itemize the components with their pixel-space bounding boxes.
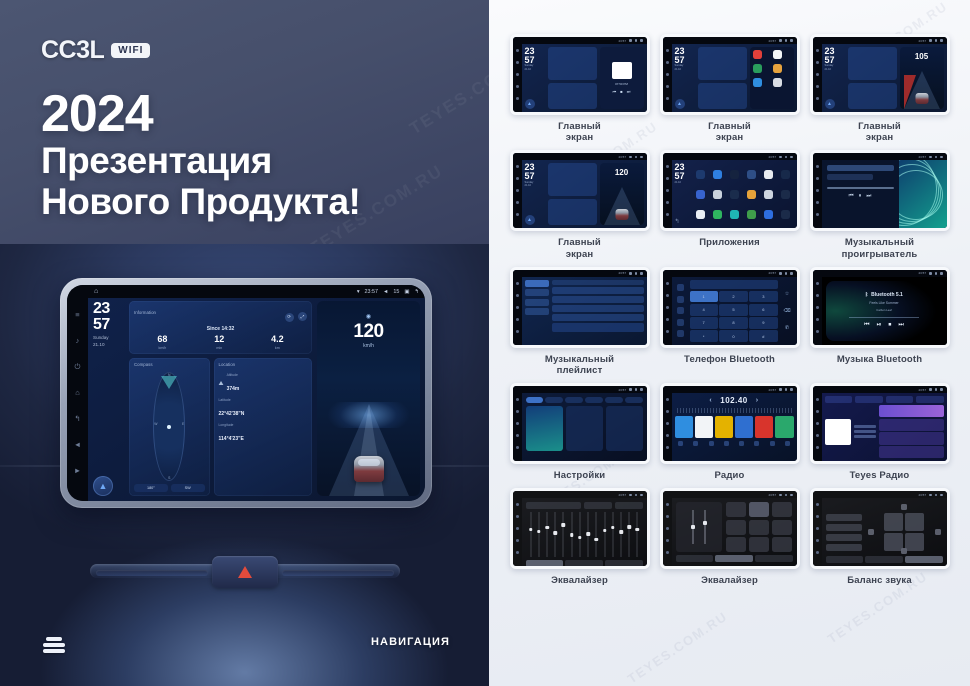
expand-icon[interactable]: ⤢ <box>298 312 307 321</box>
player-visualizer <box>899 160 947 228</box>
gallery-item-home-apps[interactable]: 23:57 2357Sunday21.10 ▲ <box>660 34 800 143</box>
bt-badge: Bluetooth 5.1 <box>871 292 903 298</box>
status-bar: ⌂ ▾ 23:57 ◄ 15 ▣ ↰ <box>88 285 425 298</box>
dialpad-actions[interactable]: ☆ ⌫ ✆ <box>781 280 794 342</box>
stat-value: 68 <box>157 335 167 344</box>
thumb-status-bar: 23:57 <box>672 386 797 393</box>
call-icon[interactable]: ✆ <box>785 325 789 331</box>
gallery-item-bt-music[interactable]: 23:57 ᛒBluetooth 5.1 Feels Like Summer C… <box>810 267 950 376</box>
navigation-fab-button[interactable]: ▲ <box>93 476 113 496</box>
screenshot-icon[interactable]: ▣ <box>404 289 409 295</box>
thumb-status-bar: 23:57 <box>522 37 647 44</box>
compass-cone-icon <box>161 376 177 389</box>
compass-north-label: N <box>168 373 170 377</box>
gallery-item-dialpad[interactable]: 23:57 123 456 <box>660 267 800 376</box>
thumb-side-rail <box>513 270 522 345</box>
home-icon[interactable]: ⌂ <box>94 288 98 295</box>
gallery-item-caption: Главный экран <box>558 237 601 259</box>
location-latitude: Latitude 22°42'38"N <box>219 398 307 420</box>
gallery-item-caption: Настройки <box>554 470 605 481</box>
dashboard-glow <box>0 509 489 686</box>
screenshot-thumbnail[interactable]: 23:57 <box>810 488 950 569</box>
thumb-side-rail <box>663 491 672 566</box>
balance-left-button[interactable] <box>868 529 874 535</box>
gallery-item-teyes-radio[interactable]: 23:57 <box>810 383 950 481</box>
compass-bearing: 180° <box>134 484 168 492</box>
bt-artist: Carbon Leaf <box>849 308 919 312</box>
screenshot-thumbnail[interactable]: 23:57 123 456 <box>660 267 800 348</box>
radio-next-icon[interactable]: › <box>756 397 759 404</box>
gallery-row: 23:57 2357Sunday21.10 ▲ <box>501 34 958 143</box>
screenshot-thumbnail[interactable]: 23:57 <box>510 488 650 569</box>
screenshot-thumbnail[interactable]: 23:57 <box>810 383 950 464</box>
head-unit-side-rail[interactable]: ≡ ♪ ⏻ ⌂ ↰ ◄ ► <box>67 285 88 501</box>
location-latitude-value: 22°42'38"N <box>219 411 245 417</box>
thumb-side-rail <box>513 386 522 461</box>
backspace-icon[interactable]: ⌫ <box>783 308 790 314</box>
gallery-item-caption: Главный экран <box>558 121 601 143</box>
compass-title: Compass <box>134 362 205 367</box>
eq2-sliders[interactable] <box>676 502 722 552</box>
eq2-presets[interactable] <box>726 502 793 552</box>
back-icon[interactable]: ↰ <box>414 289 419 295</box>
head-unit-home-screen: ⌂ ▾ 23:57 ◄ 15 ▣ ↰ <box>88 285 425 501</box>
gallery-item-home-drive[interactable]: 23:57 2357Sunday21.10 ▲ <box>810 34 950 143</box>
gallery-item-caption: Телефон Bluetooth <box>684 354 775 365</box>
stat-unit: km <box>271 346 284 350</box>
gallery-item-caption: Эквалайзер <box>701 575 758 586</box>
thumb-nav-fab-icon: ▲ <box>825 99 835 109</box>
drive-view-panel[interactable]: ◉ 120 km/h <box>317 301 420 496</box>
screenshot-thumbnail[interactable]: 23:57 ‹ 102.40 › <box>660 383 800 464</box>
vent-slot <box>282 570 394 576</box>
thumb-side-rail <box>663 270 672 345</box>
widgets-bottom-row: Compass N E S W <box>129 358 312 496</box>
location-altitude: ⛰ Altitude 374m <box>219 373 307 395</box>
screenshot-thumbnail[interactable]: 23:57 <box>660 488 800 569</box>
home-grid: 23 57 Sunday 21.10 ▲ <box>93 301 420 496</box>
thumb-status-bar: 23:57 <box>822 491 947 498</box>
stat-item: 12 min <box>214 335 224 350</box>
gallery-row: 23:57 Настройки <box>501 383 958 481</box>
gallery-row: 23:57 <box>501 267 958 376</box>
car-3d-model <box>354 456 384 482</box>
gallery-item-settings[interactable]: 23:57 Настройки <box>510 383 650 481</box>
stat-unit: min <box>214 346 224 350</box>
rail-menu-icon[interactable]: ≡ <box>75 311 79 319</box>
gallery-row: 23:57 <box>501 488 958 586</box>
thumb-side-rail <box>813 270 822 345</box>
navigation-label: НАВИГАЦИЯ <box>371 636 450 648</box>
gallery-item-player[interactable]: 23:57 ⏮⏸⏭ <box>810 150 950 259</box>
volume-icon: ◄ <box>383 289 388 295</box>
thumb-side-rail <box>513 153 522 228</box>
screenshot-thumbnail[interactable]: 23:57 2357Sunday21.10 ▲ <box>510 150 650 231</box>
gallery-item-caption: Главный экран <box>858 121 901 143</box>
compass-west-label: W <box>154 422 157 426</box>
compass-card[interactable]: Compass N E S W <box>129 358 210 496</box>
thumb-status-bar: 23:57 <box>522 270 647 277</box>
radio-frequency: 102.40 <box>720 396 747 405</box>
location-longitude-value: 114°4'23"E <box>219 436 244 442</box>
location-card[interactable]: Location ⛰ Altitude 374m <box>214 358 312 496</box>
location-altitude-label: Altitude <box>227 373 240 377</box>
thumb-status-bar: 23:57 <box>672 37 797 44</box>
compass-readouts: 180° SW <box>134 484 205 492</box>
hero-headline-line1: Презентация <box>41 141 360 182</box>
gallery-row: 23:57 2357Sunday21.10 ▲ <box>501 150 958 259</box>
thumb-side-rail <box>813 153 822 228</box>
thumb-side-rail <box>813 386 822 461</box>
car-dashboard-photo: ≡ ♪ ⏻ ⌂ ↰ ◄ ► ⌂ ▾ 23:57 <box>0 244 489 686</box>
rail-volume-up-icon[interactable]: ► <box>74 467 81 475</box>
balance-rear-button[interactable] <box>901 548 907 554</box>
radio-presets[interactable] <box>675 416 794 438</box>
stat-value: 4.2 <box>271 335 284 344</box>
radio-prev-icon[interactable]: ‹ <box>709 397 712 404</box>
location-longitude: Longitude 114°4'23"E <box>219 423 307 445</box>
navigation-arrow-icon: ▲ <box>99 482 108 491</box>
gallery-item-caption: Главный экран <box>708 121 751 143</box>
thumb-speed-value: 105 <box>900 52 944 61</box>
thumb-side-rail <box>663 386 672 461</box>
status-bar-right: ▾ 23:57 ◄ 15 ▣ ↰ <box>357 289 419 295</box>
thumb-side-rail <box>813 491 822 566</box>
balance-front-button[interactable] <box>901 504 907 510</box>
gallery-item-caption: Музыкальный проигрыватель <box>842 237 918 259</box>
compass-direction: SW <box>171 484 205 492</box>
location-title: Location <box>219 362 307 367</box>
thumb-status-bar: 23:57 <box>672 153 797 160</box>
stat-unit: km/h <box>157 346 167 350</box>
gallery-item-caption: Баланс звука <box>847 575 912 586</box>
gallery-item-caption: Радио <box>715 470 745 481</box>
thumb-status-bar: 23:57 <box>522 386 647 393</box>
thumb-status-bar: 23:57 <box>822 270 947 277</box>
rail-home-icon[interactable]: ⌂ <box>75 389 80 397</box>
screenshot-thumbnail[interactable]: 23:57 <box>510 267 650 348</box>
widgets-column: Information ⟳ ⤢ Since 14:32 <box>129 301 312 496</box>
compass-south-label: S <box>168 476 170 480</box>
clock-column: 23 57 Sunday 21.10 ▲ <box>93 301 124 496</box>
thumb-side-rail <box>663 37 672 112</box>
gallery-item-apps[interactable]: 23:57 235721.10 ↰ <box>660 150 800 259</box>
gallery-item-caption: Приложения <box>699 237 760 248</box>
clock-widget: 23 57 Sunday 21.10 <box>93 301 124 348</box>
thumb-side-rail <box>813 37 822 112</box>
screenshot-thumbnail[interactable]: 23:57 ⏮⏸⏭ <box>810 150 950 231</box>
balance-pad[interactable] <box>866 502 943 562</box>
thumb-side-rail <box>513 37 522 112</box>
rail-volume-down-icon[interactable]: ◄ <box>74 441 81 449</box>
refresh-icon[interactable]: ⟳ <box>285 313 294 322</box>
thumb-nav-fab-icon: ▲ <box>525 215 535 225</box>
bt-track-title: Feels Like Summer <box>849 301 919 305</box>
speed-value: 120 <box>317 321 420 343</box>
presentation-slide: TEYES.COM.RU TEYES.COM.RU TEYES.COM.RU C… <box>0 0 970 686</box>
location-longitude-label: Longitude <box>219 423 307 427</box>
location-altitude-value: 374m <box>227 386 240 392</box>
gallery-item-playlist[interactable]: 23:57 <box>510 267 650 376</box>
mountain-icon: ⛰ <box>219 381 224 388</box>
gallery-item-radio[interactable]: 23:57 ‹ 102.40 › <box>660 383 800 481</box>
information-card[interactable]: Information ⟳ ⤢ Since 14:32 <box>129 301 312 354</box>
thumb-nav-fab-icon: ▲ <box>675 99 685 109</box>
thumb-status-bar: 23:57 <box>822 153 947 160</box>
hero-watermark: TEYES.COM.RU <box>406 41 489 139</box>
gallery-grid: 23:57 2357Sunday21.10 ▲ <box>501 34 958 587</box>
stat-value: 12 <box>214 335 224 344</box>
gallery-item-caption: Музыкальный плейлист <box>545 354 614 376</box>
hero-headline: 2024 Презентация Нового Продукта! <box>41 88 360 222</box>
screenshot-thumbnail[interactable]: 23:57 235721.10 ↰ <box>660 150 800 231</box>
clock-date: 21.10 <box>93 342 124 348</box>
clock-hours: 23 <box>93 301 124 317</box>
hero-headline-line2: Нового Продукта! <box>41 182 360 223</box>
thumb-speed-value: 120 <box>600 168 644 177</box>
information-card-header: Information ⟳ ⤢ <box>134 305 307 323</box>
gallery-item-home-media[interactable]: 23:57 2357Sunday21.10 ▲ <box>510 34 650 143</box>
logo-model-text: CC3L <box>41 36 104 65</box>
stat-item: 68 km/h <box>157 335 167 350</box>
album-art <box>825 419 851 445</box>
head-unit-screen[interactable]: ≡ ♪ ⏻ ⌂ ↰ ◄ ► ⌂ ▾ 23:57 <box>67 285 425 501</box>
thumb-side-rail <box>663 153 672 228</box>
equalizer-sliders[interactable] <box>526 512 643 557</box>
gallery-item-balance[interactable]: 23:57 <box>810 488 950 586</box>
thumb-status-bar: 23:57 <box>672 270 797 277</box>
hero-panel: TEYES.COM.RU TEYES.COM.RU TEYES.COM.RU C… <box>0 0 489 686</box>
status-clock: 23:57 <box>365 289 379 295</box>
drive-road-core <box>354 404 384 496</box>
screenshot-thumbnail[interactable]: 23:57 2357Sunday21.10 ▲ <box>510 34 650 115</box>
rail-music-icon[interactable]: ♪ <box>76 337 80 345</box>
radio-tuning-scale[interactable] <box>677 408 792 413</box>
vent-slot <box>96 570 208 576</box>
layers-icon <box>43 635 65 653</box>
screenshot-gallery: TEYES.COM.RU TEYES.COM.RU TEYES.COM.RU T… <box>489 0 970 686</box>
speed-unit: km/h <box>317 343 420 349</box>
hero-year: 2024 <box>41 88 360 141</box>
rail-power-icon[interactable]: ⏻ <box>75 363 81 371</box>
star-icon[interactable]: ☆ <box>785 291 789 297</box>
compass-dial: N E S W <box>153 372 185 481</box>
head-unit-bezel: ≡ ♪ ⏻ ⌂ ↰ ◄ ► ⌂ ▾ 23:57 <box>60 278 432 508</box>
gallery-item-caption: Эквалайзер <box>551 575 608 586</box>
bluetooth-icon: ᛒ <box>865 292 868 298</box>
gallery-item-caption: Teyes Радио <box>850 470 910 481</box>
wifi-icon: ▾ <box>357 289 360 295</box>
information-title: Information <box>134 310 156 315</box>
screenshot-thumbnail[interactable]: 23:57 2357Sunday21.10 ▲ <box>660 34 800 115</box>
thumb-status-bar: 23:57 <box>822 37 947 44</box>
balance-right-button[interactable] <box>935 529 941 535</box>
thumb-status-bar: 23:57 <box>522 491 647 498</box>
thumb-status-bar: 23:57 <box>522 153 647 160</box>
screenshot-thumbnail[interactable]: 23:57 ᛒBluetooth 5.1 Feels Like Summer C… <box>810 267 950 348</box>
product-logo: CC3L WIFI <box>41 36 150 65</box>
information-since: Since 14:32 <box>134 326 307 332</box>
thumb-status-bar: 23:57 <box>672 491 797 498</box>
status-volume: 15 <box>393 289 399 295</box>
hud-icon: ◉ <box>366 313 371 320</box>
gallery-item-equalizer2[interactable]: 23:57 <box>660 488 800 586</box>
gallery-item-equalizer[interactable]: 23:57 <box>510 488 650 586</box>
logo-wifi-badge: WIFI <box>111 43 150 58</box>
bt-player-controls[interactable]: ⏮⏯⏹⏭ <box>849 322 919 329</box>
player-controls[interactable]: ⏮⏸⏭ <box>827 193 894 200</box>
screenshot-thumbnail[interactable]: 23:57 2357Sunday21.10 ▲ <box>810 34 950 115</box>
gallery-watermark: TEYES.COM.RU <box>625 609 730 686</box>
hazard-triangle-icon <box>238 566 252 578</box>
location-latitude-label: Latitude <box>219 398 307 402</box>
clock-minutes: 57 <box>93 317 124 333</box>
information-stats: 68 km/h 12 min 4.2 <box>134 335 307 350</box>
hazard-button[interactable] <box>212 556 278 588</box>
compass-east-label: E <box>182 422 184 426</box>
stat-item: 4.2 km <box>271 335 284 350</box>
thumb-nav-fab-icon: ▲ <box>525 99 535 109</box>
information-card-actions: ⟳ ⤢ <box>285 305 307 323</box>
rail-back-icon[interactable]: ↰ <box>74 415 80 423</box>
thumb-side-rail <box>513 491 522 566</box>
compass-center-dot <box>167 425 171 429</box>
thumb-back-icon: ↰ <box>675 218 693 225</box>
gallery-item-home-nav[interactable]: 23:57 2357Sunday21.10 ▲ <box>510 150 650 259</box>
screenshot-thumbnail[interactable]: 23:57 <box>510 383 650 464</box>
gallery-item-caption: Музыка Bluetooth <box>837 354 922 365</box>
thumb-status-bar: 23:57 <box>822 386 947 393</box>
